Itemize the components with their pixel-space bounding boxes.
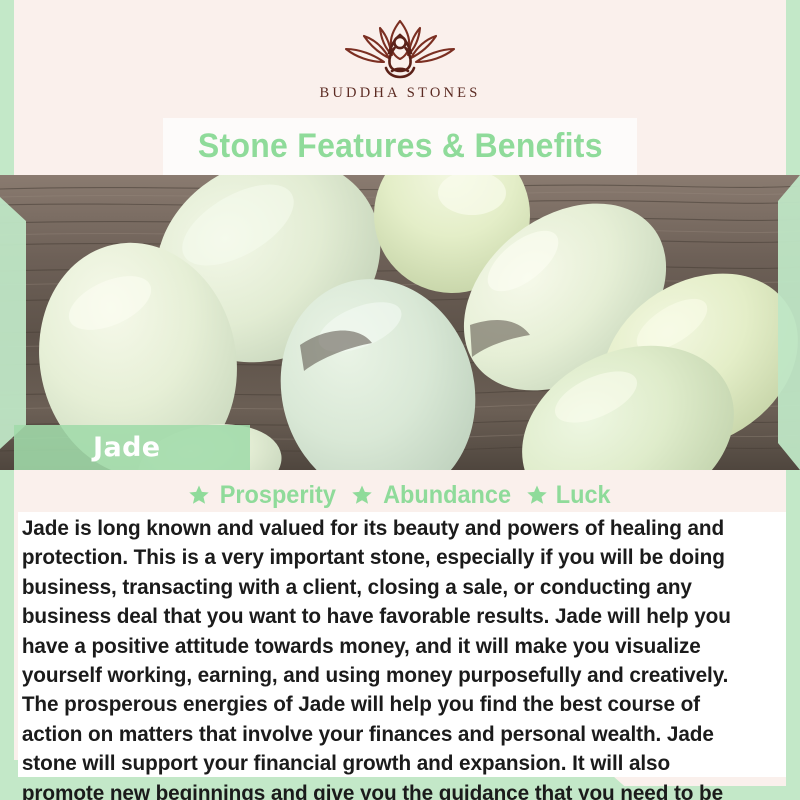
star-icon [188,484,210,506]
description-panel: Jade is long known and valued for its be… [18,512,786,777]
benefit-item: Luck [526,481,612,510]
brand-wordmark: BUDDHA STONES [320,85,481,102]
page-title: Stone Features & Benefits [198,127,603,166]
star-icon [351,484,373,506]
description-text: Jade is long known and valued for its be… [18,512,759,800]
benefits-row: Prosperity Abundance Luck [14,478,786,512]
benefit-label: Prosperity [220,481,336,510]
benefit-label: Luck [555,481,610,510]
stone-name: Jade [93,432,161,463]
stone-name-band: Jade [14,425,250,470]
benefit-label: Abundance [383,481,511,510]
title-banner: Stone Features & Benefits [163,118,637,175]
lotus-meditation-icon [334,16,466,80]
photo-accent-right [778,175,800,470]
benefit-item: Abundance [351,481,515,510]
star-icon [526,484,548,506]
brand-header: BUDDHA STONES [14,0,786,118]
stone-info-card: BUDDHA STONES Stone Features & Benefits [0,0,800,800]
benefit-item: Prosperity [188,481,340,510]
